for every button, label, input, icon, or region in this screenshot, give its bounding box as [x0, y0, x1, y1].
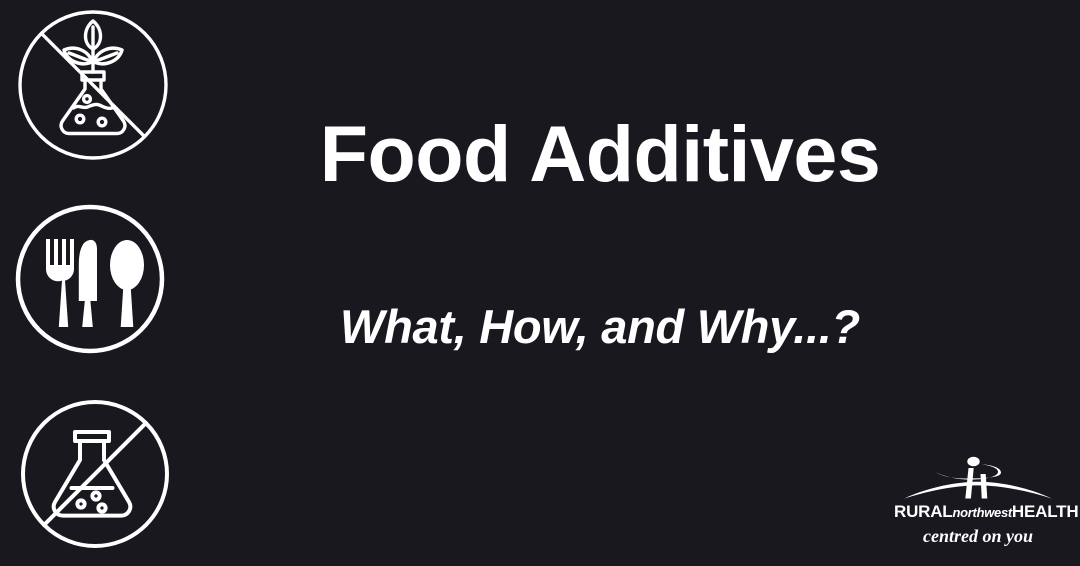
rural-northwest-health-figure-mark [894, 452, 1062, 506]
icon-column [0, 0, 190, 566]
title-block: Food Additives What, How, and Why...? [190, 0, 1010, 566]
no-chemicals-flask-icon [19, 398, 171, 550]
logo-wordmark: RURALnorthwestHEALTH [894, 502, 1062, 522]
page-title: Food Additives [190, 114, 1010, 193]
page-subtitle: What, How, and Why...? [190, 303, 1010, 350]
logo-wordmark-rural: RURAL [894, 502, 953, 521]
organisation-logo: RURALnorthwestHEALTH centred on you [894, 452, 1062, 558]
slide-canvas: Food Additives What, How, and Why...? [0, 0, 1080, 566]
logo-wordmark-health: HEALTH [1012, 502, 1078, 521]
logo-wordmark-northwest: northwest [953, 505, 1012, 520]
logo-tagline: centred on you [894, 526, 1062, 547]
cutlery-plate-icon [14, 203, 166, 355]
no-additive-plant-flask-icon [17, 9, 169, 161]
